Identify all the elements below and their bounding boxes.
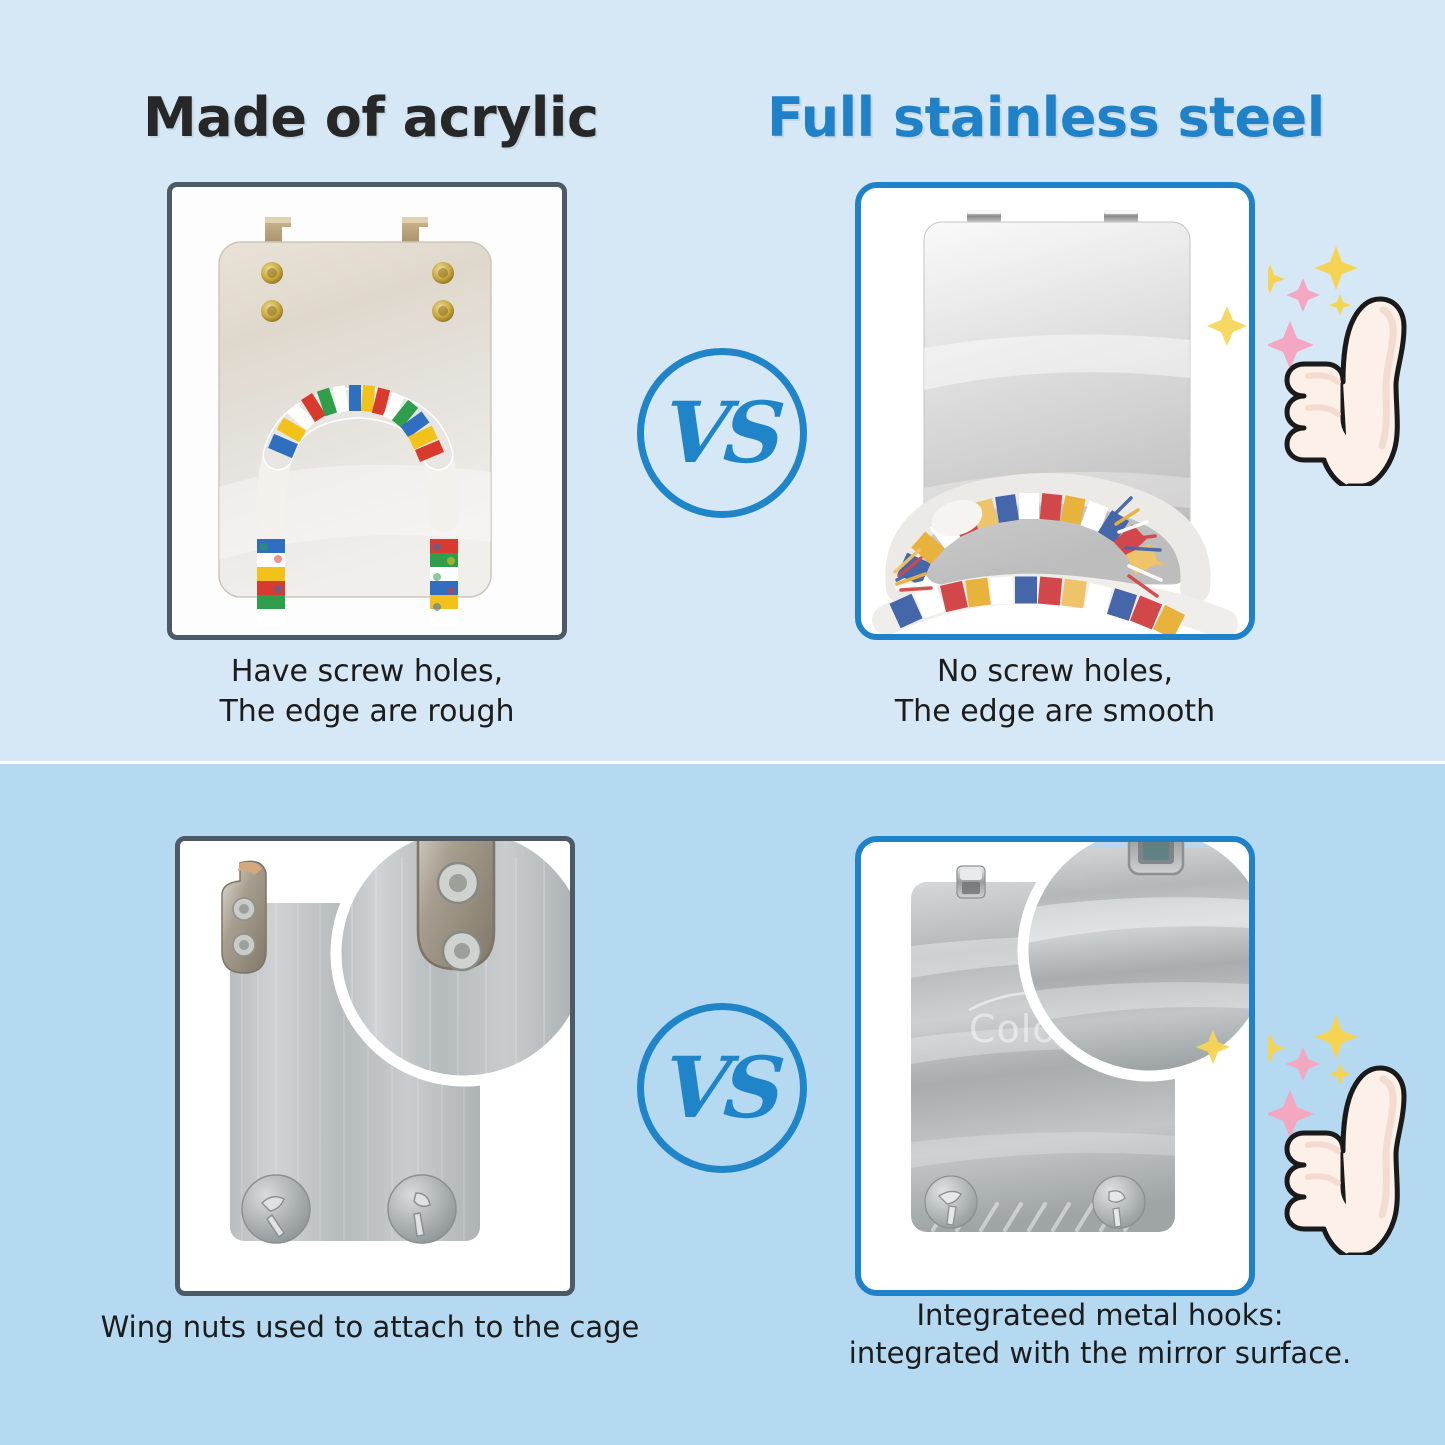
vs-label: VS xyxy=(662,391,782,475)
caption-acrylic: Have screw holes, The edge are rough xyxy=(107,652,627,731)
photo-card-stainless-mirror[interactable] xyxy=(855,182,1255,640)
caption-stainless: No screw holes, The edge are smooth xyxy=(795,652,1315,731)
section-divider xyxy=(0,761,1445,764)
thumbs-up-icon-top xyxy=(1268,236,1443,486)
photo-card-integrated-hooks[interactable]: Colorday xyxy=(855,836,1255,1296)
photo-card-wing-nuts[interactable] xyxy=(175,836,575,1296)
acrylic-mirror-photo xyxy=(172,187,562,635)
wing-nut-plate-photo xyxy=(180,841,570,1291)
heading-stainless-steel: Full stainless steel xyxy=(767,86,1325,149)
heading-acrylic: Made of acrylic xyxy=(143,86,598,149)
thumbs-up-icon-bottom xyxy=(1268,1005,1443,1255)
photo-card-acrylic-mirror[interactable] xyxy=(167,182,567,640)
caption-wing-nuts: Wing nuts used to attach to the cage xyxy=(60,1308,680,1346)
caption-integrated-hooks: Integrateed metal hooks: integrated with… xyxy=(800,1296,1400,1373)
vs-label: VS xyxy=(662,1046,782,1130)
vs-badge-top: VS xyxy=(637,348,807,518)
integrated-hooks-photo: Colorday xyxy=(861,842,1249,1290)
vs-badge-bottom: VS xyxy=(637,1003,807,1173)
stainless-mirror-photo xyxy=(861,188,1249,634)
comparison-infographic: Made of acrylic Full stainless steel xyxy=(0,0,1445,1445)
